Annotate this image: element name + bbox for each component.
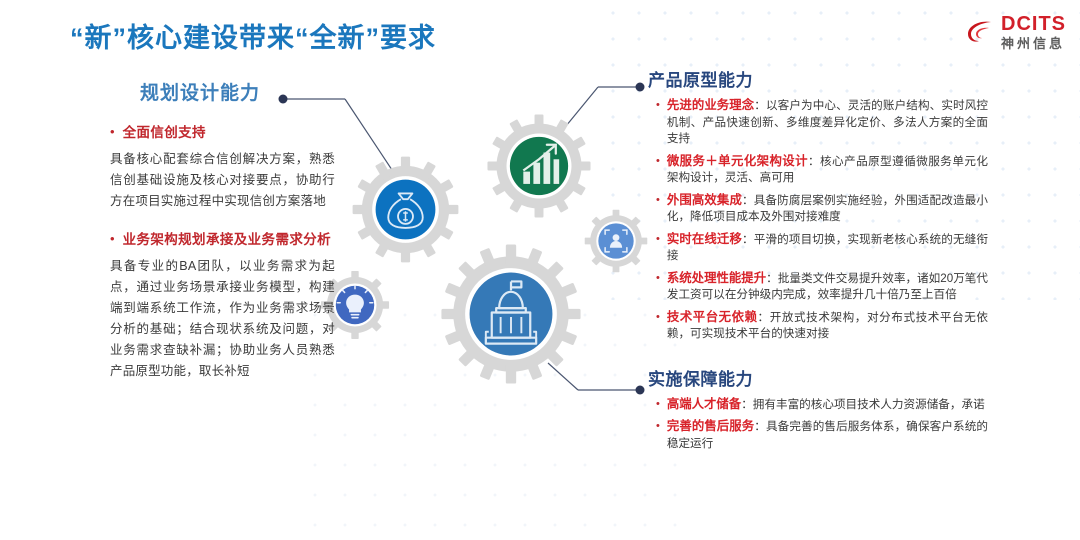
right-column: 产品原型能力 • 先进的业务理念：以客户为中心、灵活的账户结构、实时风控机制、产…: [648, 66, 988, 457]
left-bullet-body: 具备专业的BA团队，以业务需求为起点，通过业务场景承接业务模型，构建端到端系统工…: [110, 256, 335, 382]
bullet-dot-icon: •: [648, 192, 660, 226]
bullet-dot-icon: •: [648, 396, 660, 414]
list-item-title: 先进的业务理念: [667, 98, 754, 112]
slide-canvas: “新”核心建设带来“全新”要求 DCITS 神州信息: [0, 0, 1080, 540]
right-section-heading: 产品原型能力: [648, 66, 988, 91]
swirl-logo-icon: [965, 17, 995, 47]
bullet-dot-icon: •: [648, 309, 660, 343]
left-bullet-title: 全面信创支持: [123, 123, 206, 143]
list-item: • 微服务＋单元化架构设计：核心产品原型遵循微服务单元化架构设计，灵活、高可用: [648, 153, 988, 187]
bullet-dot-icon: •: [648, 270, 660, 304]
list-item-text: 技术平台无依赖：开放式技术架构，对分布式技术平台无依赖，可实现技术平台的快速对接: [667, 309, 988, 343]
left-bullet-item: • 业务架构规划承接及业务需求分析: [110, 230, 335, 250]
list-item-title: 系统处理性能提升: [667, 271, 766, 285]
list-item-text: 完善的售后服务：具备完善的售后服务体系，确保客户系统的稳定运行: [667, 418, 988, 452]
list-item-title: 技术平台无依赖: [667, 310, 758, 324]
list-item-title: 完善的售后服务: [667, 419, 754, 433]
gear-person-target: [582, 207, 650, 275]
bullet-dot-icon: •: [110, 123, 115, 143]
list-item: • 技术平台无依赖：开放式技术架构，对分布式技术平台无依赖，可实现技术平台的快速…: [648, 309, 988, 343]
left-column: 规划设计能力 • 全面信创支持 具备核心配套综合信创解决方案，熟悉信创基础设施及…: [110, 78, 335, 382]
list-item: • 系统处理性能提升：批量类文件交易提升效率，诸如20万笔代发工资可以在分钟级内…: [648, 270, 988, 304]
gear-bank-building: [437, 240, 585, 388]
bullet-dot-icon: •: [648, 231, 660, 265]
gear-bar-chart: [483, 110, 595, 222]
bullet-dot-icon: •: [110, 230, 115, 250]
list-item: • 完善的售后服务：具备完善的售后服务体系，确保客户系统的稳定运行: [648, 418, 988, 452]
left-bullet-title: 业务架构规划承接及业务需求分析: [123, 230, 332, 250]
page-title: “新”核心建设带来“全新”要求: [70, 16, 436, 55]
right-section-items: • 高端人才储备：拥有丰富的核心项目技术人力资源储备，承诺 • 完善的售后服务：…: [648, 396, 988, 453]
company-logo: DCITS 神州信息: [965, 14, 1066, 50]
list-item-text: 高端人才储备：拥有丰富的核心项目技术人力资源储备，承诺: [667, 396, 985, 414]
list-item: • 高端人才储备：拥有丰富的核心项目技术人力资源储备，承诺: [648, 396, 988, 414]
list-item: • 先进的业务理念：以客户为中心、灵活的账户结构、实时风控机制、产品快速创新、多…: [648, 97, 988, 148]
right-section-product-prototype: 产品原型能力 • 先进的业务理念：以客户为中心、灵活的账户结构、实时风控机制、产…: [648, 66, 988, 343]
list-item: • 外围高效集成：具备防腐层案例实施经验，外围适配改造最小化，降低项目成本及外围…: [648, 192, 988, 226]
list-item-text: 微服务＋单元化架构设计：核心产品原型遵循微服务单元化架构设计，灵活、高可用: [667, 153, 988, 187]
list-item-title: 高端人才储备: [667, 397, 741, 411]
right-section-implementation-guarantee: 实施保障能力 • 高端人才储备：拥有丰富的核心项目技术人力资源储备，承诺 • 完…: [648, 365, 988, 453]
list-item: • 实时在线迁移：平滑的项目切换，实现新老核心系统的无缝衔接: [648, 231, 988, 265]
logo-brand-cn-text: 神州信息: [1001, 37, 1066, 50]
list-item-text: 外围高效集成：具备防腐层案例实施经验，外围适配改造最小化，降低项目成本及外围对接…: [667, 192, 988, 226]
list-item-text: 系统处理性能提升：批量类文件交易提升效率，诸如20万笔代发工资可以在分钟级内完成…: [667, 270, 988, 304]
bullet-dot-icon: •: [648, 153, 660, 187]
right-section-items: • 先进的业务理念：以客户为中心、灵活的账户结构、实时风控机制、产品快速创新、多…: [648, 97, 988, 343]
logo-brand-text: DCITS: [1001, 14, 1066, 34]
right-section-heading: 实施保障能力: [648, 365, 988, 390]
left-column-heading: 规划设计能力: [140, 78, 335, 105]
list-item-body: ：拥有丰富的核心项目技术人力资源储备，承诺: [741, 398, 984, 411]
list-item-title: 实时在线迁移: [667, 232, 742, 246]
list-item-title: 微服务＋单元化架构设计: [667, 154, 808, 168]
list-item-text: 先进的业务理念：以客户为中心、灵活的账户结构、实时风控机制、产品快速创新、多维度…: [667, 97, 988, 148]
left-bullet-item: • 全面信创支持: [110, 123, 335, 143]
left-bullet-body: 具备核心配套综合信创解决方案，熟悉信创基础设施及核心对接要点，协助行方在项目实施…: [110, 149, 335, 212]
bullet-dot-icon: •: [648, 418, 660, 452]
list-item-title: 外围高效集成: [667, 193, 742, 207]
bullet-dot-icon: •: [648, 97, 660, 148]
list-item-text: 实时在线迁移：平滑的项目切换，实现新老核心系统的无缝衔接: [667, 231, 988, 265]
